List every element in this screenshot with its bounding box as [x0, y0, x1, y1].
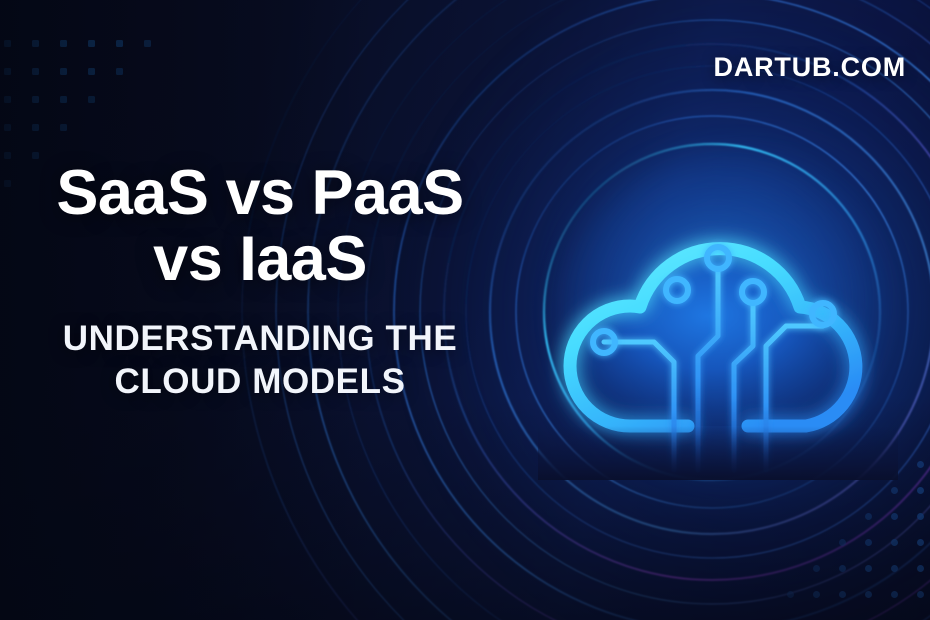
cloud-models-banner: DARTUB.COM SaaS vs PaaS vs IaaS UNDERSTA… [0, 0, 930, 620]
page-title-line-2: vs IaaS [0, 226, 520, 292]
page-subtitle-line-2: CLOUD MODELS [0, 361, 520, 404]
cloud-circuit-icon [538, 140, 898, 480]
headline-block: SaaS vs PaaS vs IaaS UNDERSTANDING THE C… [0, 160, 520, 404]
brand-watermark: DARTUB.COM [714, 52, 906, 83]
page-subtitle-line-1: UNDERSTANDING THE [63, 319, 458, 358]
page-title: SaaS vs PaaS vs IaaS [0, 160, 520, 292]
page-subtitle: UNDERSTANDING THE CLOUD MODELS [0, 318, 520, 403]
page-title-line-1: SaaS vs PaaS [56, 158, 463, 228]
